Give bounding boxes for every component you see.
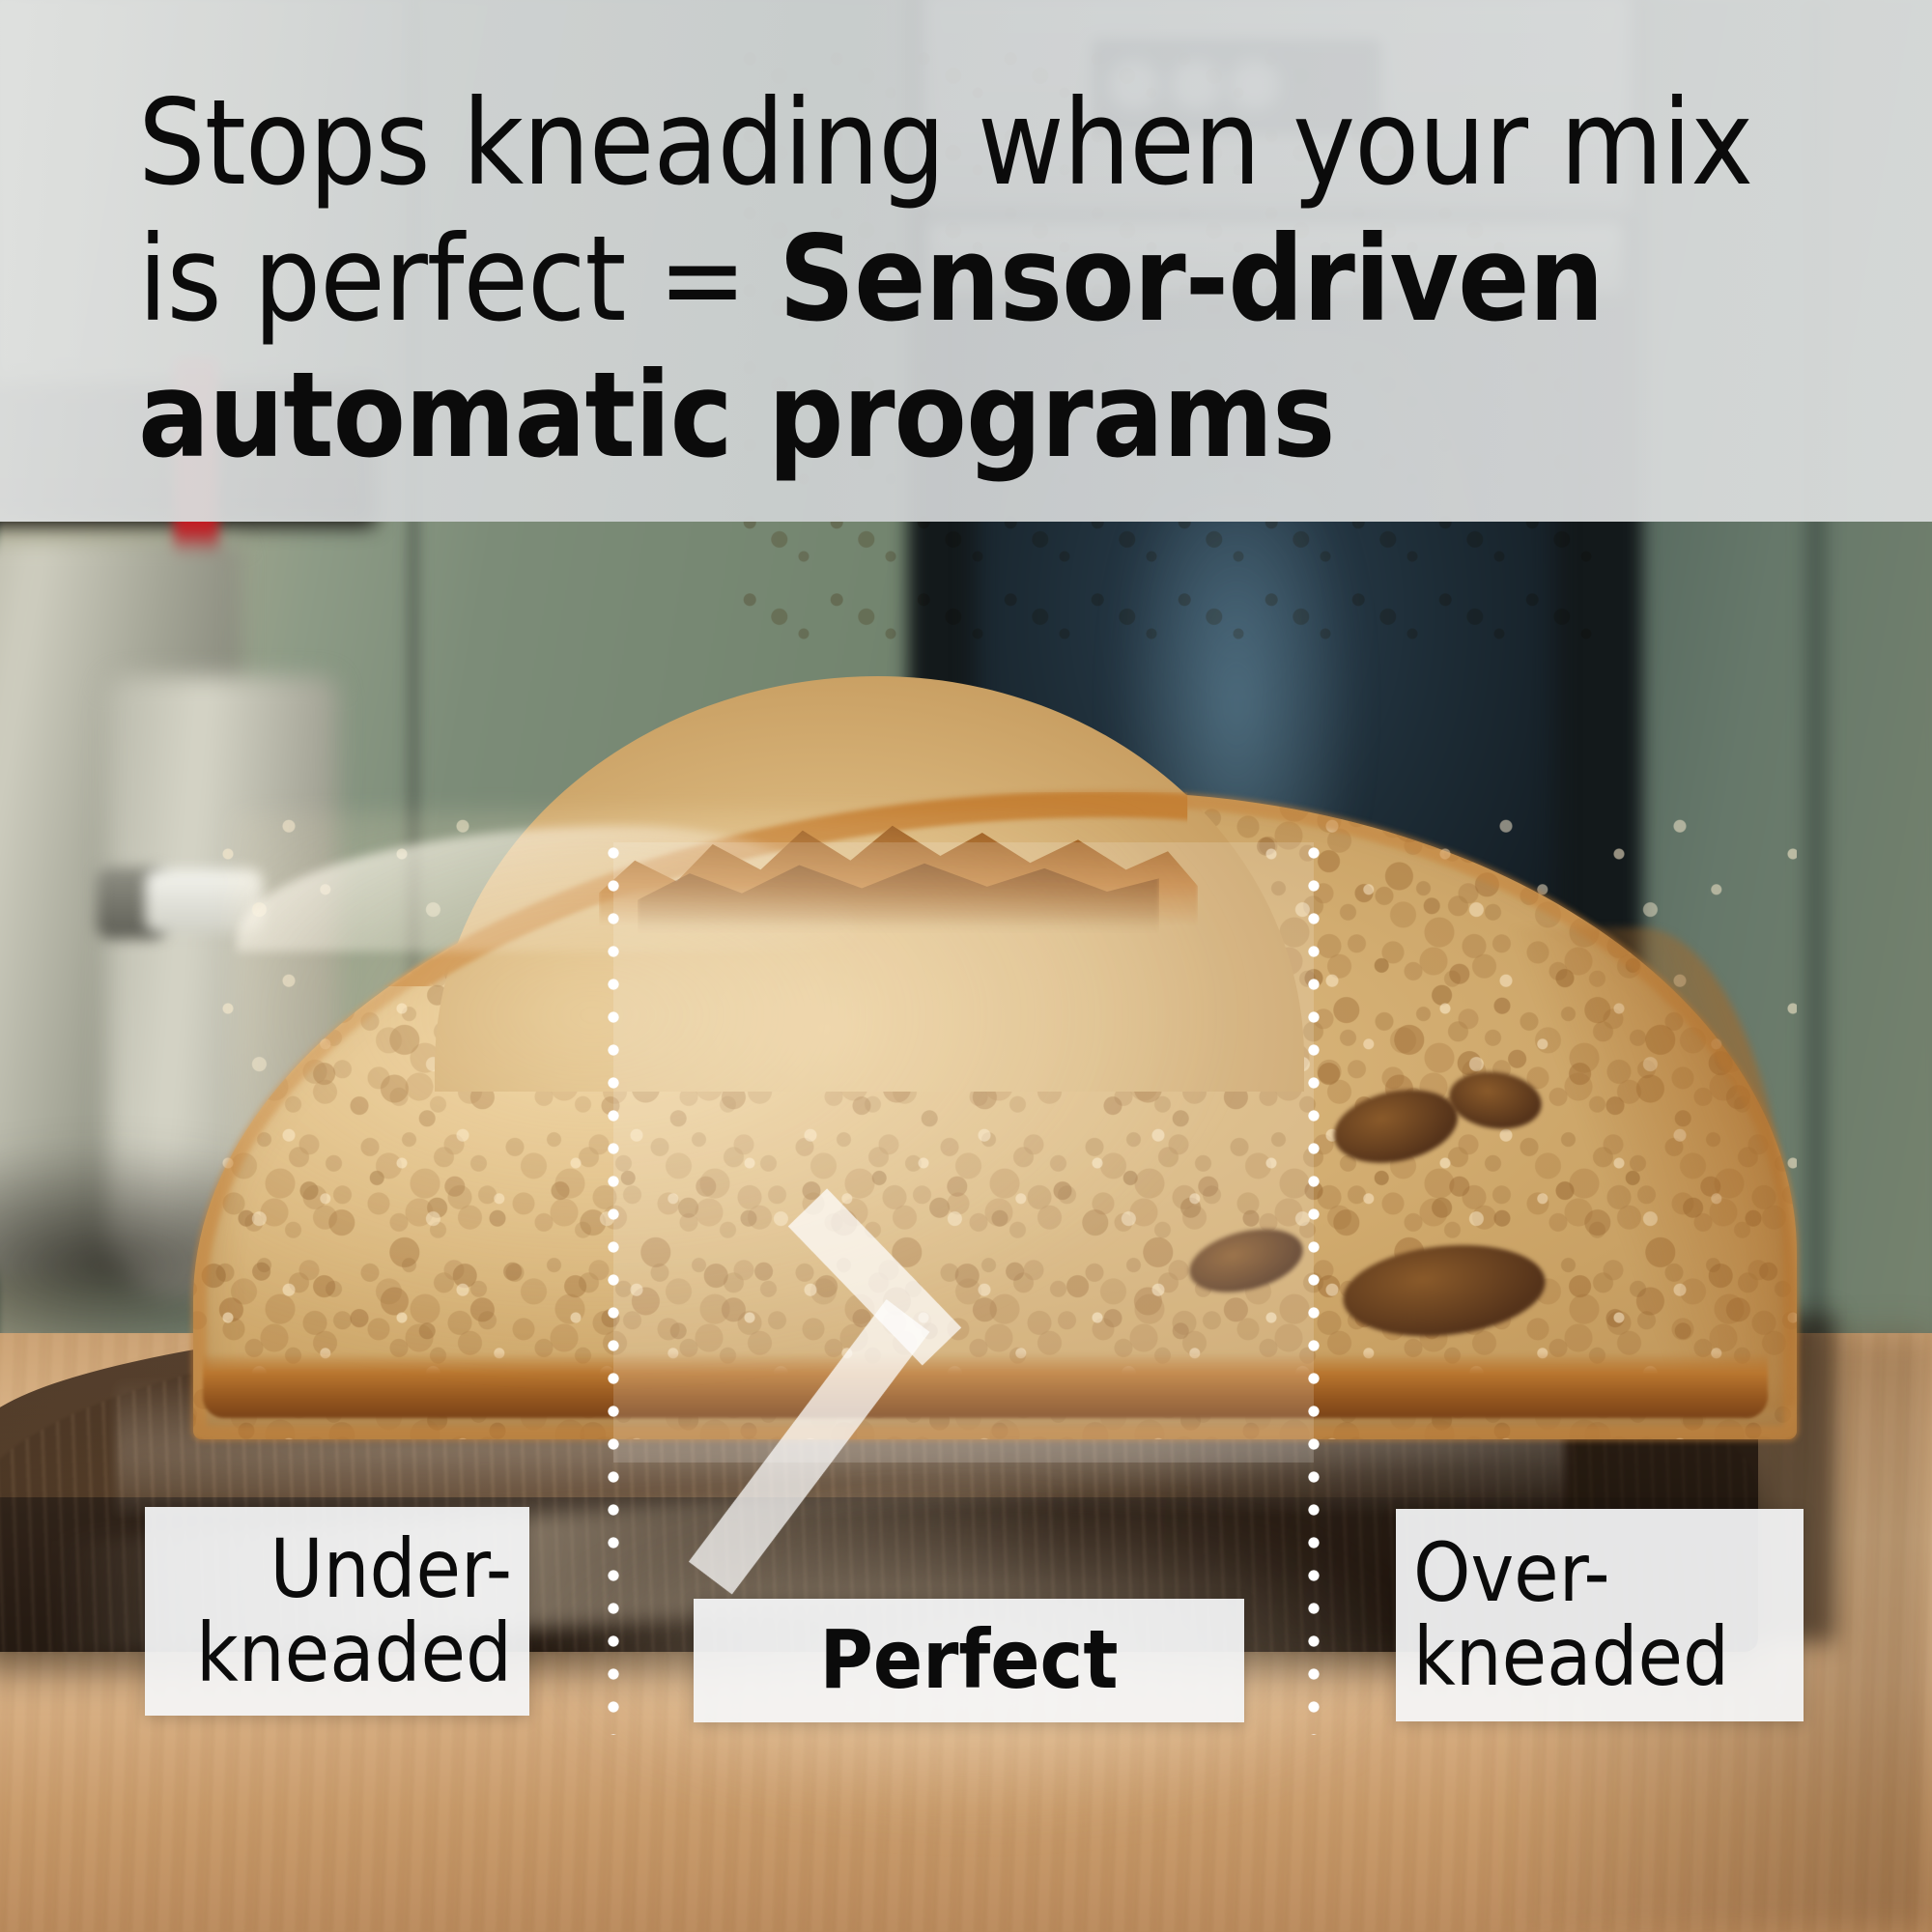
promo-image: Stops kneading when your mix is perfect …: [0, 0, 1932, 1932]
headline-banner: Stops kneading when your mix is perfect …: [0, 0, 1932, 522]
label-perfect-line1: Perfect: [820, 1618, 1119, 1702]
label-over-kneaded-line1: Over-: [1413, 1531, 1729, 1615]
label-perfect: Perfect: [694, 1599, 1244, 1722]
label-under-kneaded: Under- kneaded: [145, 1507, 529, 1716]
divider-right: [1306, 837, 1321, 1735]
label-over-kneaded-line2: kneaded: [1413, 1615, 1729, 1699]
divider-left: [606, 837, 621, 1735]
label-over-kneaded: Over- kneaded: [1396, 1509, 1804, 1721]
bread-sunlight: [232, 811, 1294, 1410]
label-under-kneaded-line2: kneaded: [196, 1611, 512, 1695]
page-title: Stops kneading when your mix is perfect …: [138, 75, 1838, 484]
label-under-kneaded-line1: Under-: [196, 1527, 512, 1611]
check-mark-icon: [773, 1053, 1101, 1352]
